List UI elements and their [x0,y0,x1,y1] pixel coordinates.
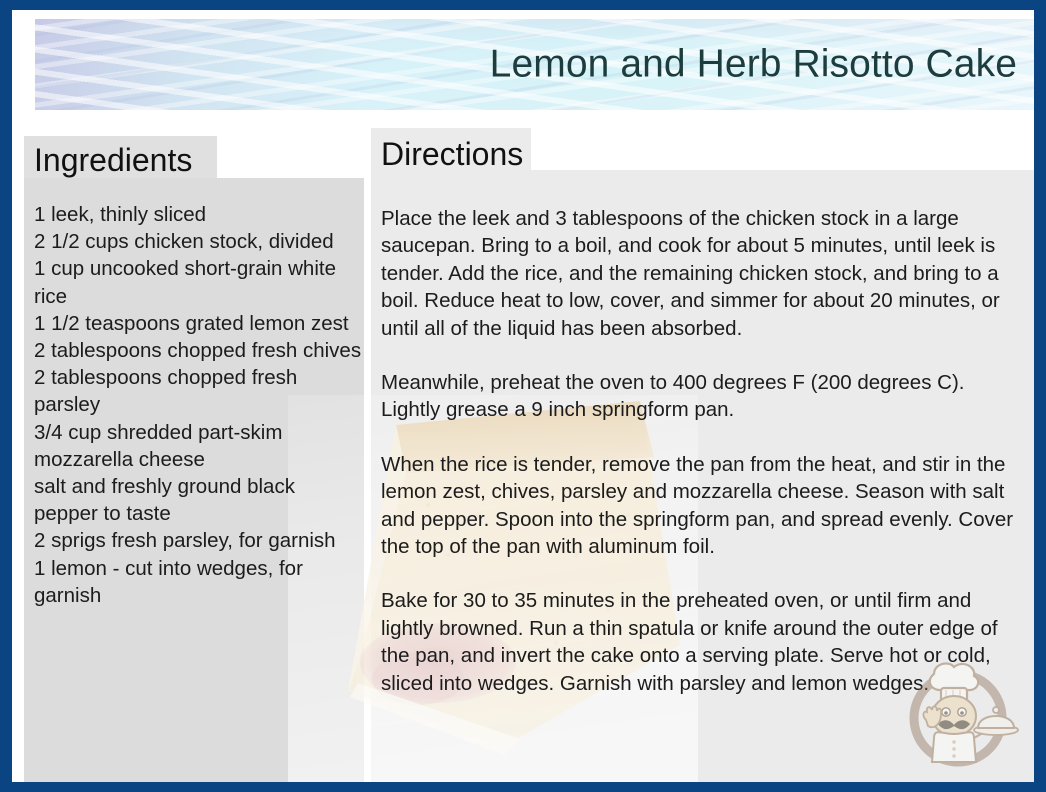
list-item: 1 leek, thinly sliced [34,201,364,228]
list-item: 1 cup uncooked short-grain white rice [34,255,364,309]
page-title: Lemon and Herb Risotto Cake [490,44,1017,85]
recipe-page: Lemon and Herb Risotto Cake Ingredients … [12,10,1034,782]
list-item: 2 sprigs fresh parsley, for garnish [34,527,364,554]
list-item: salt and freshly ground black pepper to … [34,473,364,527]
list-item: 2 1/2 cups chicken stock, divided [34,228,364,255]
direction-paragraph: Place the leek and 3 tablespoons of the … [381,205,1026,342]
ingredients-heading: Ingredients [34,144,192,176]
chef-mascot-logo [896,646,1020,770]
list-item: 1 1/2 teaspoons grated lemon zest [34,310,364,337]
direction-paragraph: Meanwhile, preheat the oven to 400 degre… [381,369,1026,424]
list-item: 2 tablespoons chopped fresh chives [34,337,364,364]
directions-text: Place the leek and 3 tablespoons of the … [381,205,1026,697]
recipe-card: Lemon and Herb Risotto Cake Ingredients … [0,0,1046,792]
list-item: 3/4 cup shredded part-skim mozzarella ch… [34,419,364,473]
directions-heading: Directions [381,138,523,170]
list-item: 1 lemon - cut into wedges, for garnish [34,555,364,609]
direction-paragraph: When the rice is tender, remove the pan … [381,451,1026,561]
ingredients-list: 1 leek, thinly sliced 2 1/2 cups chicken… [34,201,364,609]
list-item: 2 tablespoons chopped fresh parsley [34,364,364,418]
title-banner: Lemon and Herb Risotto Cake [35,19,1034,110]
